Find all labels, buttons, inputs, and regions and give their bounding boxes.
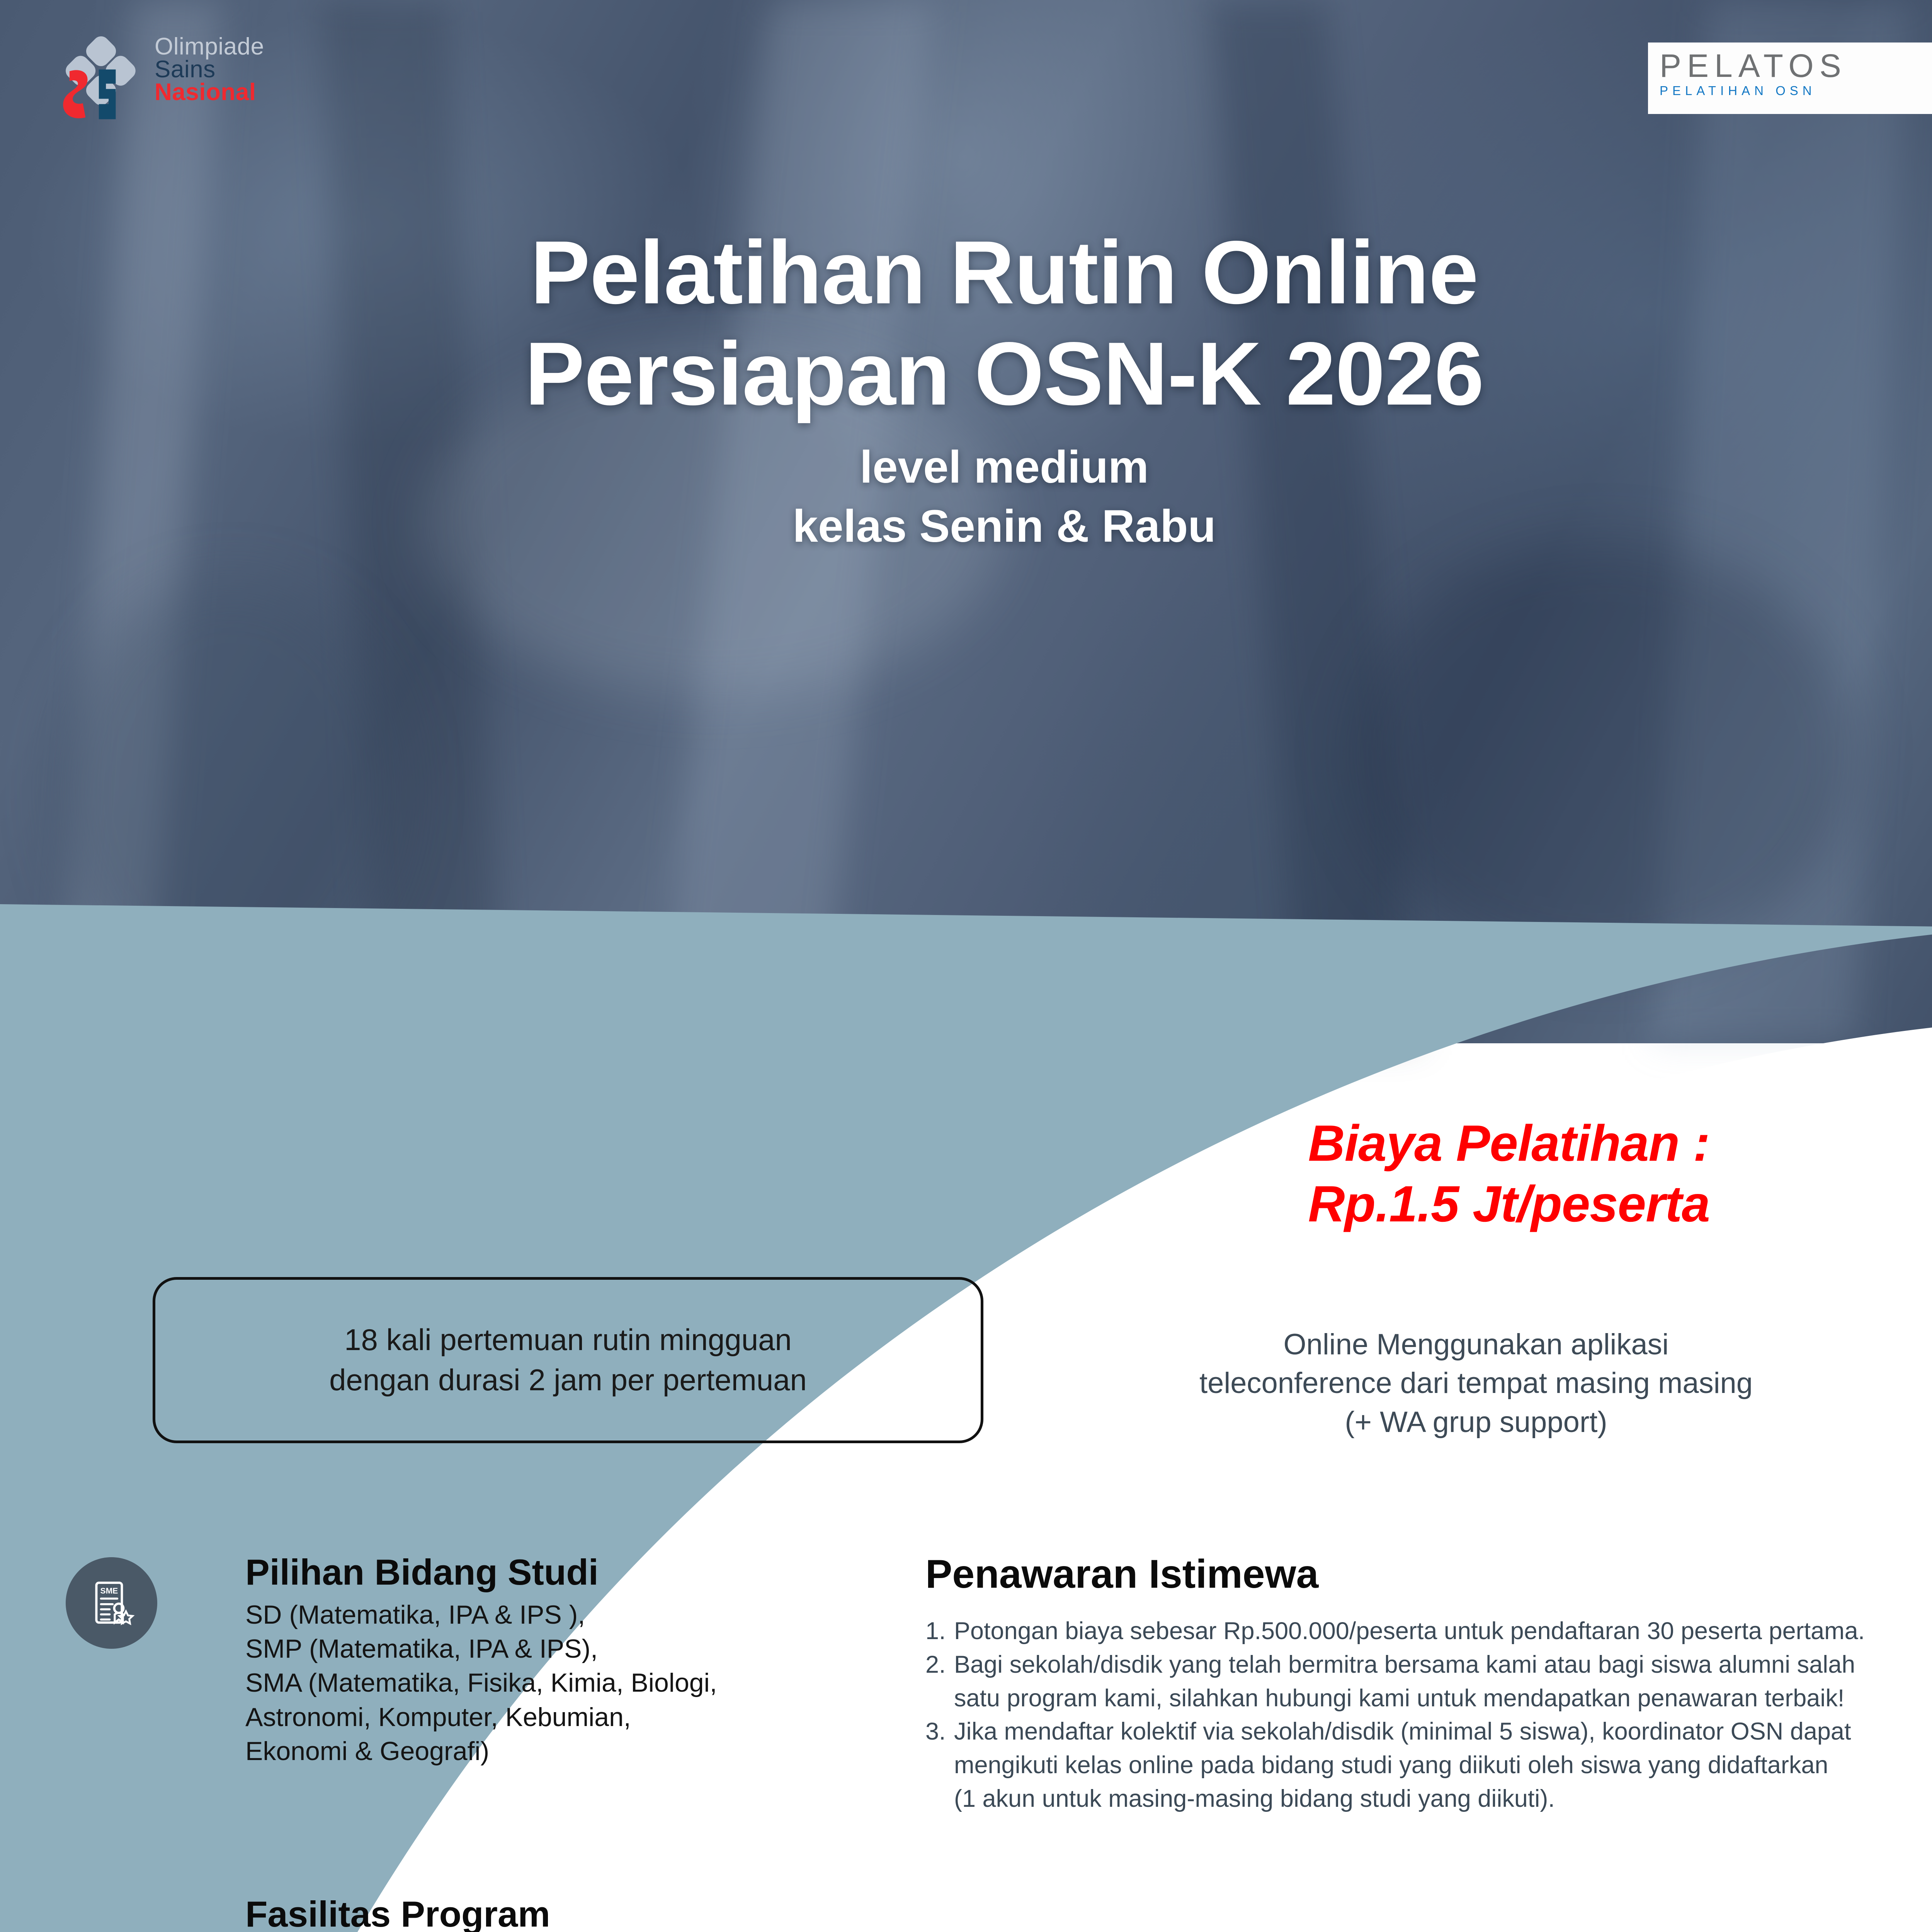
subtitle-line-1: level medium (0, 439, 1932, 496)
certificate-sme-icon: SME (66, 1557, 157, 1649)
pelatos-name: PELATOS (1660, 49, 1930, 82)
penawaran-heading: Penawaran Istimewa (925, 1553, 1932, 1595)
bidang-studi-line: SD (Matematika, IPA & IPS ), (245, 1598, 873, 1632)
svg-text:SME: SME (100, 1586, 118, 1595)
list-item: 3. Jika mendaftar kolektif via sekolah/d… (925, 1715, 1932, 1748)
pill-line-2: dengan durasi 2 jam per pertemuan (329, 1360, 807, 1400)
list-item-continuation: mengikuti kelas online pada bidang studi… (925, 1749, 1932, 1782)
penawaran-section: Penawaran Istimewa 1. Potongan biaya seb… (925, 1553, 1932, 1816)
osn-logo-line3: Nasional (155, 81, 264, 104)
osn-logo: Olimpiade Sains Nasional (58, 31, 344, 128)
online-note-line-1: Online Menggunakan aplikasi (989, 1325, 1932, 1364)
online-note-block: Online Menggunakan aplikasi teleconferen… (989, 1325, 1932, 1442)
bidang-studi-section: SME Pilihan Bidang Studi SD (Matematika,… (66, 1553, 873, 1769)
photo-blob (1352, 541, 1855, 966)
fasilitas-heading: Fasilitas Program (245, 1895, 873, 1932)
item-number: 2. (925, 1648, 954, 1681)
session-count-pill: 18 kali pertemuan rutin mingguan dengan … (153, 1277, 983, 1443)
list-item: 1. Potongan biaya sebesar Rp.500.000/pes… (925, 1615, 1932, 1648)
bidang-studi-heading: Pilihan Bidang Studi (245, 1553, 873, 1592)
item-text: Potongan biaya sebesar Rp.500.000/pesert… (954, 1615, 1932, 1648)
price-label: Biaya Pelatihan : (1066, 1113, 1932, 1173)
item-text: Jika mendaftar kolektif via sekolah/disd… (954, 1715, 1932, 1748)
list-item-continuation: satu program kami, silahkan hubungi kami… (925, 1682, 1932, 1715)
list-item-continuation: (1 akun untuk masing-masing bidang studi… (925, 1782, 1932, 1815)
item-number-spacer (925, 1749, 954, 1782)
item-text: satu program kami, silahkan hubungi kami… (954, 1682, 1932, 1715)
item-number: 3. (925, 1715, 954, 1748)
bidang-studi-line: Ekonomi & Geografi) (245, 1734, 873, 1768)
photo-blob (58, 580, 406, 1005)
fasilitas-section: Fasilitas Program - Pertemuan online int… (66, 1895, 873, 1932)
title-line-2: Persiapan OSN-K 2026 (0, 323, 1932, 425)
bidang-studi-line: SMA (Matematika, Fisika, Kimia, Biologi, (245, 1666, 873, 1700)
item-number: 1. (925, 1615, 954, 1648)
online-note-line-3: (+ WA grup support) (989, 1403, 1932, 1442)
item-number-spacer (925, 1782, 954, 1815)
pelatos-logo: PELATOS PELATIHAN OSN (1648, 43, 1932, 114)
osn-logo-line1: Olimpiade (155, 36, 264, 58)
osn-logo-line2: Sains (155, 58, 264, 81)
item-text: Bagi sekolah/disdik yang telah bermitra … (954, 1648, 1932, 1681)
pelatos-tagline: PELATIHAN OSN (1660, 84, 1930, 97)
price-block: Biaya Pelatihan : Rp.1.5 Jt/peserta (1066, 1113, 1932, 1234)
online-note-line-2: teleconference dari tempat masing masing (989, 1364, 1932, 1403)
title-line-1: Pelatihan Rutin Online (0, 222, 1932, 323)
item-text: mengikuti kelas online pada bidang studi… (954, 1749, 1932, 1782)
osn-cube-logo-icon (58, 35, 147, 124)
certificate-sme-glyph: SME (86, 1578, 137, 1629)
price-amount: Rp.1.5 Jt/peserta (1066, 1173, 1932, 1234)
bidang-studi-line: Astronomi, Komputer, Kebumian, (245, 1700, 873, 1734)
item-number-spacer (925, 1682, 954, 1715)
bidang-studi-line: SMP (Matematika, IPA & IPS), (245, 1632, 873, 1666)
subtitle-line-2: kelas Senin & Rabu (0, 498, 1932, 555)
hero-title-block: Pelatihan Rutin Online Persiapan OSN-K 2… (0, 222, 1932, 555)
list-item: 2. Bagi sekolah/disdik yang telah bermit… (925, 1648, 1932, 1681)
penawaran-list: 1. Potongan biaya sebesar Rp.500.000/pes… (925, 1615, 1932, 1815)
item-text: (1 akun untuk masing-masing bidang studi… (954, 1782, 1932, 1815)
pill-line-1: 18 kali pertemuan rutin mingguan (344, 1320, 792, 1360)
